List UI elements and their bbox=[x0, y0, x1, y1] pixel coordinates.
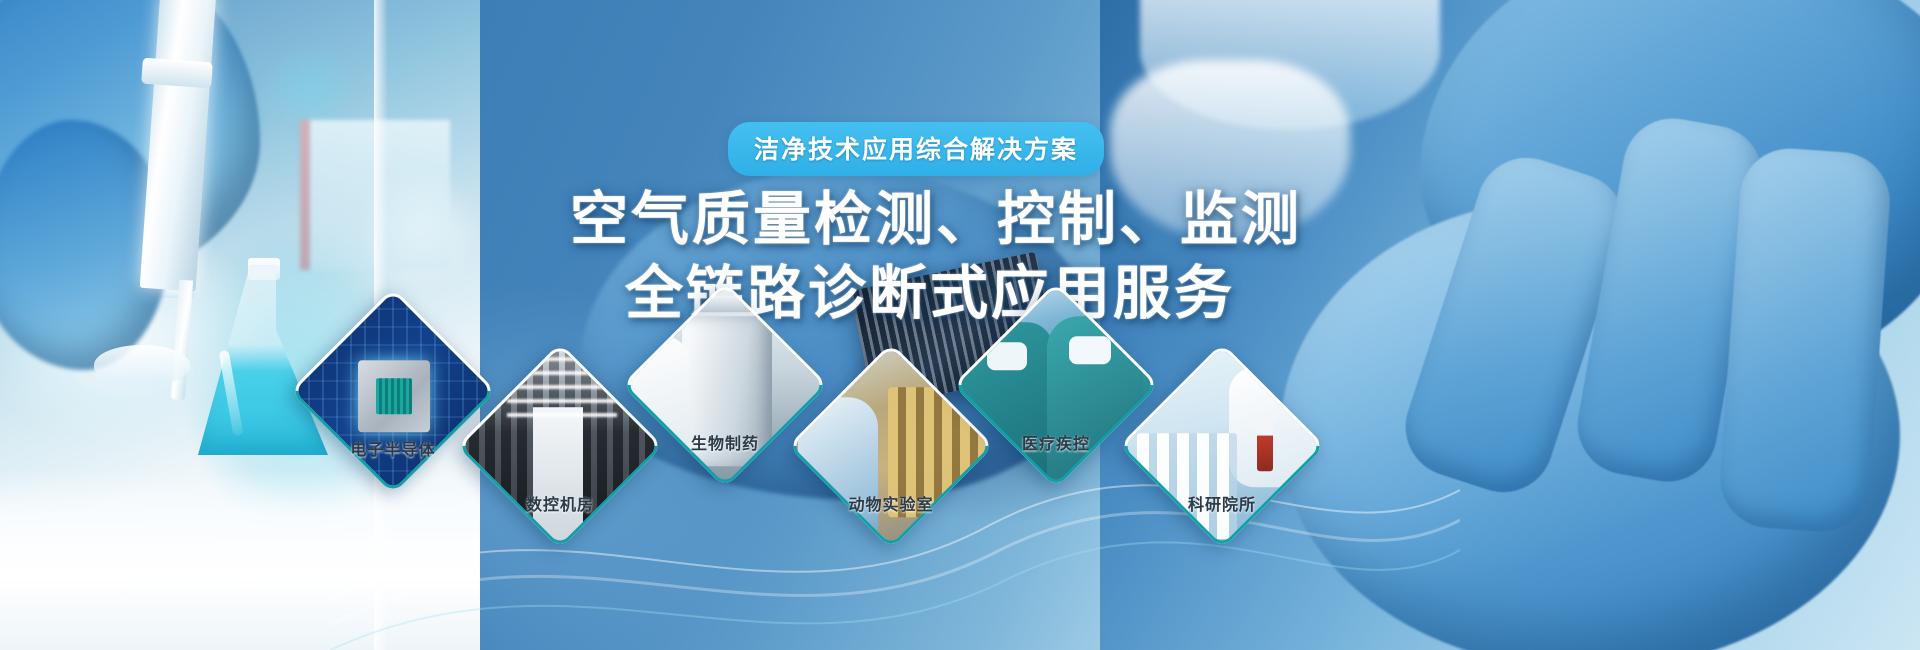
hero-banner: 洁净技术应用综合解决方案 空气质量检测、控制、监测 全链路诊断式应用服务 电子半… bbox=[0, 0, 1920, 650]
industry-card-medical[interactable]: 医疗疾控 bbox=[983, 312, 1129, 458]
medical-cdc-icon bbox=[953, 282, 1159, 488]
industry-card-biopharma[interactable]: 生物制药 bbox=[652, 312, 798, 458]
industry-card-row: 电子半导体 数控机房 生物制药 bbox=[0, 0, 1920, 650]
industry-card-electronics[interactable]: 电子半导体 bbox=[320, 318, 466, 464]
industry-card-datacenter[interactable]: 数控机房 bbox=[487, 373, 633, 519]
industry-card-label: 电子半导体 bbox=[350, 436, 435, 460]
research-institute-icon bbox=[1119, 343, 1325, 549]
bio-pharma-icon bbox=[622, 282, 828, 488]
semiconductor-chip-icon bbox=[290, 288, 496, 494]
industry-card-research[interactable]: 科研院所 bbox=[1149, 373, 1295, 519]
industry-card-label: 生物制药 bbox=[691, 430, 759, 454]
industry-card-label: 科研院所 bbox=[1188, 491, 1256, 515]
industry-card-label: 动物实验室 bbox=[848, 491, 933, 515]
industry-card-animal-lab[interactable]: 动物实验室 bbox=[818, 373, 964, 519]
industry-card-label: 数控机房 bbox=[526, 491, 594, 515]
industry-card-label: 医疗疾控 bbox=[1022, 430, 1090, 454]
